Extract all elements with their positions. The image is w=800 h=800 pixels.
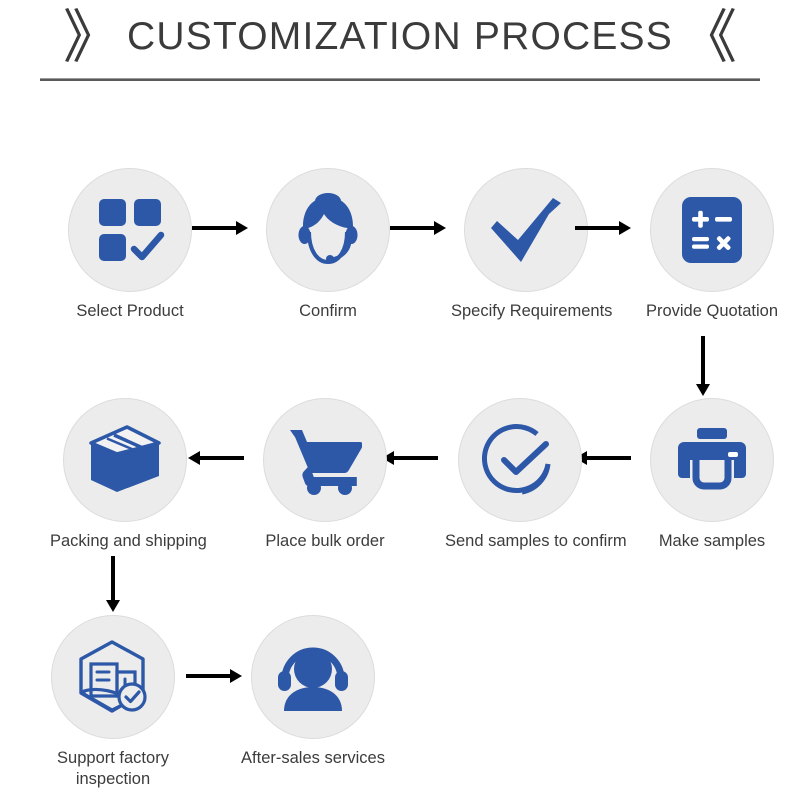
step-select-product[interactable]: Select Product bbox=[55, 168, 205, 322]
header: 》 CUSTOMIZATION PROCESS 《 bbox=[0, 0, 800, 92]
arrow-quotation-to-make-samples bbox=[694, 336, 712, 396]
box-package-icon bbox=[87, 424, 163, 496]
step-send-samples-to-confirm[interactable]: Send samples to confirm bbox=[445, 398, 595, 552]
step-icon-circle bbox=[251, 615, 375, 739]
step-packing-and-shipping[interactable]: Packing and shipping bbox=[50, 398, 200, 552]
step-icon-circle bbox=[51, 615, 175, 739]
arrow-specify-to-quotation bbox=[575, 219, 631, 237]
chevron-right-double-icon: 》 bbox=[63, 8, 121, 66]
step-icon-circle bbox=[650, 398, 774, 522]
shopping-cart-icon bbox=[288, 425, 362, 495]
step-icon-circle bbox=[464, 168, 588, 292]
step-make-samples[interactable]: Make samples bbox=[637, 398, 787, 552]
step-icon-circle bbox=[458, 398, 582, 522]
step-label: Place bulk order bbox=[250, 531, 400, 552]
step-icon-circle bbox=[63, 398, 187, 522]
step-after-sales-services[interactable]: After-sales services bbox=[238, 615, 388, 769]
calculator-icon bbox=[680, 195, 744, 265]
step-label: Support factory inspection bbox=[38, 748, 188, 790]
step-label: Specify Requirements bbox=[451, 301, 601, 322]
arrow-confirm-to-specify bbox=[390, 219, 446, 237]
headset-woman-icon bbox=[290, 192, 366, 268]
step-label: Select Product bbox=[55, 301, 205, 322]
page-title-text: CUSTOMIZATION PROCESS bbox=[127, 9, 673, 65]
step-label: Provide Quotation bbox=[637, 301, 787, 322]
step-label: After-sales services bbox=[238, 748, 388, 769]
step-icon-circle bbox=[266, 168, 390, 292]
support-agent-icon bbox=[276, 643, 350, 711]
step-provide-quotation[interactable]: Provide Quotation bbox=[637, 168, 787, 322]
step-icon-circle bbox=[263, 398, 387, 522]
step-label: Packing and shipping bbox=[50, 531, 200, 552]
step-place-bulk-order[interactable]: Place bulk order bbox=[250, 398, 400, 552]
arrow-inspection-to-after-sales bbox=[186, 667, 242, 685]
step-specify-requirements[interactable]: Specify Requirements bbox=[451, 168, 601, 322]
step-label: Confirm bbox=[253, 301, 403, 322]
checkmark-icon bbox=[487, 194, 565, 266]
grid-check-icon bbox=[95, 195, 165, 265]
step-confirm[interactable]: Confirm bbox=[253, 168, 403, 322]
customization-process-infographic: 》 CUSTOMIZATION PROCESS 《 Select Product bbox=[0, 0, 800, 800]
circle-check-icon bbox=[482, 422, 558, 498]
arrow-select-to-confirm bbox=[192, 219, 248, 237]
printer-icon bbox=[676, 426, 748, 494]
step-label: Make samples bbox=[637, 531, 787, 552]
title-divider bbox=[40, 78, 760, 81]
step-icon-circle bbox=[68, 168, 192, 292]
step-icon-circle bbox=[650, 168, 774, 292]
arrow-packing-to-inspection bbox=[104, 556, 122, 612]
page-title: 》 CUSTOMIZATION PROCESS 《 bbox=[0, 8, 800, 66]
factory-shield-check-icon bbox=[74, 639, 152, 715]
step-label: Send samples to confirm bbox=[445, 531, 595, 552]
step-support-factory-inspection[interactable]: Support factory inspection bbox=[38, 615, 188, 790]
chevron-left-double-icon: 《 bbox=[679, 8, 737, 66]
